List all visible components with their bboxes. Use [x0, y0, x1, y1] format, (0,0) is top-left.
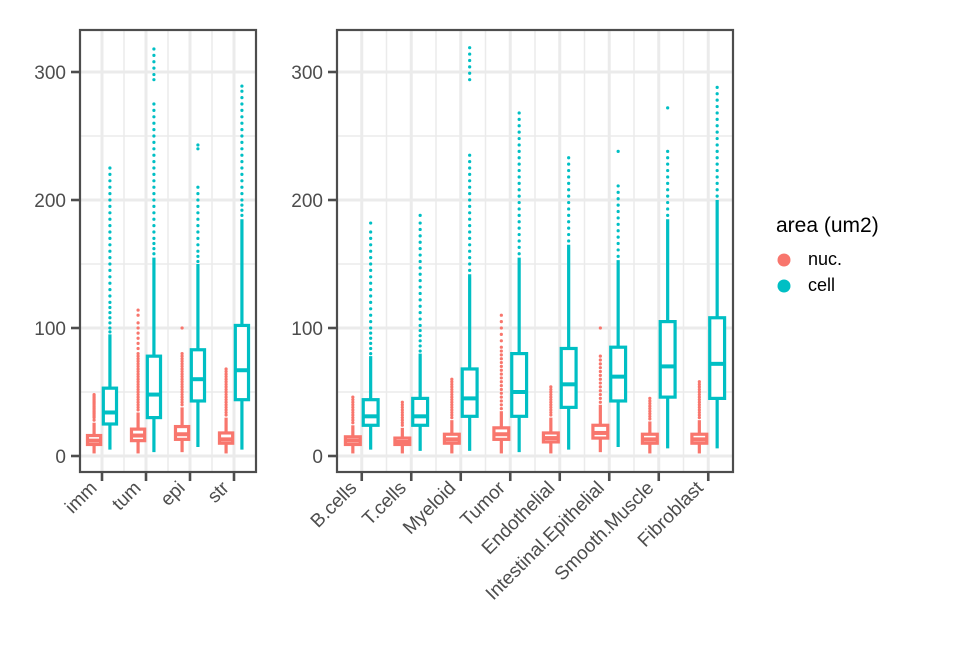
outlier-point	[599, 385, 602, 388]
outlier-point	[567, 233, 570, 236]
outlier-point	[108, 311, 111, 314]
outlier-point	[240, 147, 243, 150]
outlier-point	[500, 361, 503, 364]
outlier-point	[617, 204, 620, 207]
box	[660, 322, 675, 398]
outlier-point	[468, 192, 471, 195]
outlier-point	[599, 401, 602, 404]
outlier-point	[108, 294, 111, 297]
outlier-point	[369, 337, 372, 340]
outlier-point	[152, 109, 155, 112]
box	[462, 369, 477, 416]
outlier-point	[240, 122, 243, 125]
outlier-point	[152, 160, 155, 163]
outlier-point	[666, 182, 669, 185]
box	[103, 388, 116, 424]
outlier-point	[152, 147, 155, 150]
outlier-point	[617, 229, 620, 232]
outlier-point	[369, 352, 372, 355]
outlier-point	[419, 273, 422, 276]
outlier-point	[240, 128, 243, 131]
outlier-point	[716, 163, 719, 166]
outlier-point	[666, 188, 669, 191]
outlier-point	[369, 275, 372, 278]
outlier-point	[666, 106, 669, 109]
outlier-point	[152, 237, 155, 240]
outlier-point	[108, 179, 111, 182]
outlier-point	[108, 301, 111, 304]
outlier-point	[599, 374, 602, 377]
outlier-point	[369, 288, 372, 291]
outlier-point	[599, 370, 602, 373]
outlier-point	[419, 234, 422, 237]
outlier-point	[369, 294, 372, 297]
x-tick-label: Myeloid	[399, 478, 460, 539]
outlier-point	[617, 191, 620, 194]
outlier-point	[468, 166, 471, 169]
x-tick-label: tum	[108, 478, 145, 515]
outlier-point	[617, 248, 620, 251]
outlier-point	[468, 211, 471, 214]
y-tick-label: 0	[55, 447, 66, 468]
outlier-point	[716, 99, 719, 102]
outlier-point	[500, 396, 503, 399]
outlier-point	[108, 230, 111, 233]
outlier-point	[716, 131, 719, 134]
outlier-point	[108, 275, 111, 278]
outlier-point	[369, 243, 372, 246]
outlier-point	[240, 198, 243, 201]
outlier-point	[108, 326, 111, 329]
outlier-point	[136, 342, 139, 345]
outlier-point	[666, 214, 669, 217]
outlier-point	[369, 221, 372, 224]
outlier-point	[500, 376, 503, 379]
outlier-point	[518, 111, 521, 114]
outlier-point	[567, 163, 570, 166]
outlier-point	[500, 399, 503, 402]
outlier-point	[196, 192, 199, 195]
outlier-point	[152, 218, 155, 221]
outlier-point	[240, 214, 243, 217]
box	[363, 400, 378, 426]
outlier-point	[468, 218, 471, 221]
outlier-point	[369, 332, 372, 335]
outlier-point	[419, 228, 422, 231]
outlier-point	[567, 195, 570, 198]
outlier-point	[240, 209, 243, 212]
outlier-point	[240, 204, 243, 207]
outlier-point	[196, 224, 199, 227]
outlier-point	[152, 192, 155, 195]
outlier-point	[152, 166, 155, 169]
outlier-point	[108, 243, 111, 246]
outlier-point	[617, 150, 620, 153]
outlier-point	[518, 137, 521, 140]
outlier-point	[180, 352, 183, 355]
outlier-point	[369, 326, 372, 329]
box	[611, 347, 626, 401]
outlier-point	[152, 47, 155, 50]
outlier-point	[518, 227, 521, 230]
outlier-point	[666, 195, 669, 198]
outlier-point	[196, 237, 199, 240]
box	[413, 398, 428, 425]
outlier-point	[108, 306, 111, 309]
outlier-point	[240, 102, 243, 105]
outlier-point	[369, 307, 372, 310]
outlier-point	[500, 333, 503, 336]
outlier-point	[716, 156, 719, 159]
outlier-point	[500, 365, 503, 368]
outlier-point	[196, 218, 199, 221]
outlier-point	[152, 122, 155, 125]
outlier-point	[468, 173, 471, 176]
outlier-point	[500, 326, 503, 329]
outlier-point	[136, 308, 139, 311]
outlier-point	[419, 247, 422, 250]
legend-swatch-cell	[778, 280, 791, 293]
outlier-point	[136, 347, 139, 350]
outlier-point	[716, 118, 719, 121]
outlier-point	[196, 205, 199, 208]
outlier-point	[108, 218, 111, 221]
outlier-point	[224, 367, 227, 370]
outlier-point	[617, 216, 620, 219]
outlier-point	[108, 198, 111, 201]
x-tick-label: epi	[157, 478, 190, 511]
outlier-point	[599, 381, 602, 384]
outlier-point	[666, 163, 669, 166]
outlier-point	[419, 285, 422, 288]
outlier-point	[108, 330, 111, 333]
outlier-point	[369, 320, 372, 323]
outlier-point	[152, 179, 155, 182]
outlier-point	[666, 201, 669, 204]
outlier-point	[240, 192, 243, 195]
outlier-point	[468, 224, 471, 227]
outlier-point	[401, 401, 404, 404]
chart-canvas: immtumepistrB.cellsT.cellsMyeloidTumorEn…	[0, 0, 960, 672]
outlier-point	[419, 292, 422, 295]
outlier-point	[666, 207, 669, 210]
outlier-point	[152, 134, 155, 137]
outlier-point	[369, 347, 372, 350]
outlier-point	[152, 54, 155, 57]
outlier-point	[500, 403, 503, 406]
outlier-point	[500, 314, 503, 317]
outlier-point	[152, 73, 155, 76]
outlier-point	[136, 321, 139, 324]
outlier-point	[549, 385, 552, 388]
outlier-point	[567, 214, 570, 217]
outlier-point	[108, 186, 111, 189]
outlier-point	[518, 156, 521, 159]
outlier-point	[500, 320, 503, 323]
outlier-point	[108, 192, 111, 195]
outlier-point	[617, 236, 620, 239]
panel-left: immtumepistr	[61, 30, 256, 518]
outlier-point	[196, 230, 199, 233]
outlier-point	[108, 269, 111, 272]
outlier-point	[518, 246, 521, 249]
y-tick-label-right-panel: 200	[291, 191, 323, 212]
outlier-point	[518, 220, 521, 223]
outlier-point	[617, 210, 620, 213]
outlier-point	[240, 96, 243, 99]
outlier-point	[518, 252, 521, 255]
outlier-point	[716, 105, 719, 108]
outlier-point	[108, 250, 111, 253]
outlier-point	[666, 156, 669, 159]
outlier-point	[419, 349, 422, 352]
outlier-point	[152, 252, 155, 255]
outlier-point	[240, 90, 243, 93]
outlier-point	[108, 288, 111, 291]
outlier-point	[419, 221, 422, 224]
box	[235, 325, 248, 399]
outlier-point	[369, 282, 372, 285]
outlier-point	[567, 227, 570, 230]
outlier-point	[152, 186, 155, 189]
outlier-point	[152, 205, 155, 208]
outlier-point	[108, 166, 111, 169]
outlier-point	[136, 352, 139, 355]
outlier-point	[716, 92, 719, 95]
outlier-point	[108, 224, 111, 227]
outlier-point	[369, 301, 372, 304]
outlier-point	[240, 109, 243, 112]
outlier-point	[419, 317, 422, 320]
outlier-point	[152, 198, 155, 201]
outlier-point	[599, 397, 602, 400]
outlier-point	[500, 339, 503, 342]
outlier-point	[617, 184, 620, 187]
outlier-point	[716, 150, 719, 153]
outlier-point	[518, 118, 521, 121]
outlier-point	[468, 46, 471, 49]
outlier-point	[500, 369, 503, 372]
y-tick-label: 300	[34, 63, 66, 84]
legend: area (um2)nuc.cell	[776, 214, 879, 295]
outlier-point	[468, 52, 471, 55]
outlier-point	[152, 173, 155, 176]
outlier-point	[136, 314, 139, 317]
outlier-point	[108, 256, 111, 259]
outlier-point	[716, 175, 719, 178]
x-tick-label: B.cells	[307, 478, 361, 532]
outlier-point	[567, 188, 570, 191]
outlier-point	[240, 84, 243, 87]
outlier-point	[599, 358, 602, 361]
outlier-point	[468, 72, 471, 75]
outlier-point	[599, 362, 602, 365]
outlier-point	[180, 326, 183, 329]
outlier-point	[240, 173, 243, 176]
box	[191, 350, 204, 401]
outlier-point	[152, 128, 155, 131]
outlier-point	[500, 346, 503, 349]
outlier-point	[716, 137, 719, 140]
outlier-point	[666, 169, 669, 172]
outlier-point	[369, 269, 372, 272]
outlier-point	[419, 344, 422, 347]
outlier-point	[108, 321, 111, 324]
legend-item-cell[interactable]: cell	[778, 275, 836, 295]
y-tick-label-right-panel: 300	[291, 63, 323, 84]
outlier-point	[369, 342, 372, 345]
outlier-point	[468, 154, 471, 157]
outlier-point	[108, 211, 111, 214]
outlier-point	[567, 220, 570, 223]
box	[710, 318, 725, 399]
outlier-point	[152, 230, 155, 233]
outlier-point	[196, 147, 199, 150]
boxplot-figure: immtumepistrB.cellsT.cellsMyeloidTumorEn…	[0, 0, 960, 672]
outlier-point	[500, 380, 503, 383]
outlier-point	[567, 201, 570, 204]
legend-title: area (um2)	[776, 214, 879, 237]
outlier-point	[240, 154, 243, 157]
outlier-point	[500, 349, 503, 352]
y-tick-label-right-panel: 0	[312, 447, 323, 468]
outlier-point	[518, 233, 521, 236]
outlier-point	[500, 407, 503, 410]
y-tick-label: 100	[34, 319, 66, 340]
outlier-point	[518, 239, 521, 242]
outlier-point	[716, 86, 719, 89]
outlier-point	[518, 207, 521, 210]
outlier-point	[369, 250, 372, 253]
outlier-point	[152, 67, 155, 70]
outlier-point	[468, 250, 471, 253]
outlier-point	[468, 160, 471, 163]
outlier-point	[468, 65, 471, 68]
outlier-point	[468, 205, 471, 208]
outlier-point	[351, 396, 354, 399]
outlier-point	[240, 186, 243, 189]
outlier-point	[518, 214, 521, 217]
outlier-point	[152, 224, 155, 227]
outlier-point	[240, 160, 243, 163]
x-tick-label: str	[204, 477, 234, 507]
outlier-point	[666, 150, 669, 153]
outlier-point	[108, 237, 111, 240]
outlier-point	[666, 175, 669, 178]
outlier-point	[698, 380, 701, 383]
outlier-point	[450, 378, 453, 381]
outlier-point	[108, 205, 111, 208]
outlier-point	[468, 198, 471, 201]
outlier-point	[369, 256, 372, 259]
outlier-point	[500, 353, 503, 356]
outlier-point	[468, 243, 471, 246]
outlier-point	[567, 207, 570, 210]
outlier-point	[152, 141, 155, 144]
outlier-point	[196, 243, 199, 246]
outlier-point	[152, 247, 155, 250]
outlier-point	[468, 256, 471, 259]
outlier-point	[419, 266, 422, 269]
legend-label: nuc.	[808, 249, 842, 269]
outlier-point	[716, 111, 719, 114]
outlier-point	[518, 175, 521, 178]
outlier-point	[152, 242, 155, 245]
outlier-point	[468, 269, 471, 272]
outlier-point	[518, 169, 521, 172]
outlier-point	[617, 197, 620, 200]
outlier-point	[108, 262, 111, 265]
outlier-point	[196, 143, 199, 146]
outlier-point	[468, 59, 471, 62]
outlier-point	[716, 188, 719, 191]
outlier-point	[369, 237, 372, 240]
outlier-point	[108, 316, 111, 319]
y-tick-label-right-panel: 100	[291, 319, 323, 340]
outlier-point	[196, 255, 199, 258]
outlier-point	[419, 260, 422, 263]
legend-item-nuc[interactable]: nuc.	[778, 249, 843, 269]
outlier-point	[500, 392, 503, 395]
outlier-point	[419, 305, 422, 308]
outlier-point	[419, 324, 422, 327]
outlier-point	[468, 78, 471, 81]
outlier-point	[240, 115, 243, 118]
outlier-point	[617, 255, 620, 258]
outlier-point	[196, 211, 199, 214]
outlier-point	[599, 355, 602, 358]
outlier-point	[196, 250, 199, 253]
outlier-point	[567, 239, 570, 242]
outlier-point	[240, 134, 243, 137]
outlier-point	[152, 154, 155, 157]
outlier-point	[567, 175, 570, 178]
outlier-point	[567, 169, 570, 172]
outlier-point	[196, 260, 199, 263]
outlier-point	[716, 143, 719, 146]
outlier-point	[108, 173, 111, 176]
legend-swatch-nuc	[778, 254, 791, 267]
outlier-point	[240, 141, 243, 144]
outlier-point	[369, 314, 372, 317]
outlier-point	[152, 211, 155, 214]
outlier-point	[716, 169, 719, 172]
y-tick-label: 200	[34, 191, 66, 212]
outlier-point	[518, 182, 521, 185]
outlier-point	[617, 223, 620, 226]
outlier-point	[500, 384, 503, 387]
outlier-point	[518, 124, 521, 127]
outlier-point	[419, 298, 422, 301]
x-tick-label: imm	[61, 478, 101, 518]
panel-right: B.cellsT.cellsMyeloidTumorEndothelialInt…	[307, 30, 733, 605]
outlier-point	[419, 241, 422, 244]
outlier-point	[518, 163, 521, 166]
outlier-point	[240, 166, 243, 169]
outlier-point	[567, 182, 570, 185]
outlier-point	[468, 186, 471, 189]
outlier-point	[369, 230, 372, 233]
outlier-point	[419, 253, 422, 256]
outlier-point	[152, 78, 155, 81]
outlier-point	[92, 393, 95, 396]
legend-label: cell	[808, 275, 835, 295]
outlier-point	[599, 326, 602, 329]
outlier-point	[599, 389, 602, 392]
outlier-point	[716, 195, 719, 198]
outlier-point	[136, 337, 139, 340]
outlier-point	[468, 262, 471, 265]
